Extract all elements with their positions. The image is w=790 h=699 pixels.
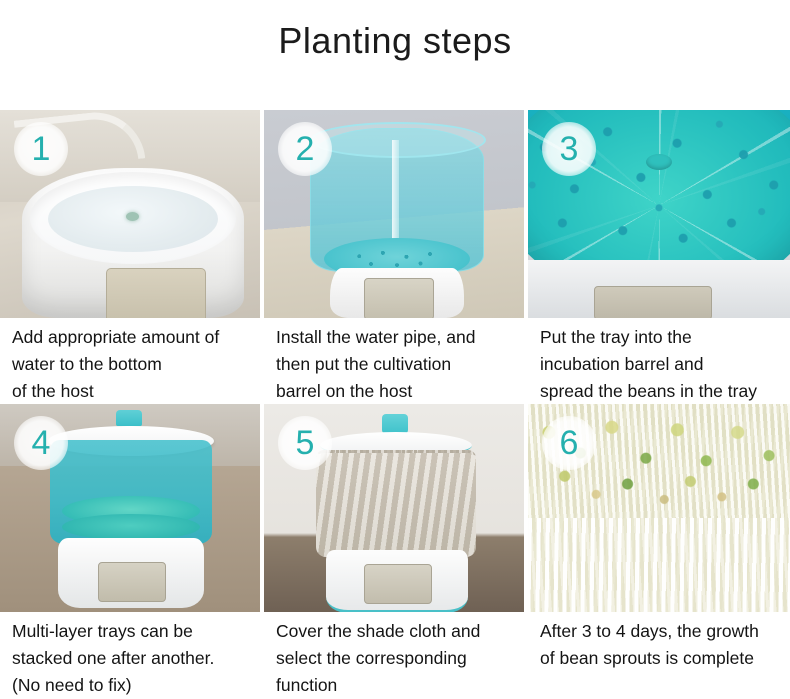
step-card-6: 6 After 3 to 4 days, the growth of bean … bbox=[528, 404, 790, 698]
step-image-2: 2 bbox=[264, 110, 524, 318]
step-caption-4: Multi-layer trays can be stacked one aft… bbox=[0, 612, 260, 698]
step-image-6: 6 bbox=[528, 404, 790, 612]
page-title: Planting steps bbox=[0, 20, 790, 62]
lid-knob bbox=[116, 410, 142, 426]
step-badge-2: 2 bbox=[278, 122, 332, 176]
step-image-5: 5 bbox=[264, 404, 524, 612]
planting-steps-infographic: Planting steps 1 Add appropriate amount … bbox=[0, 0, 790, 694]
control-panel bbox=[364, 564, 432, 604]
steps-grid: 1 Add appropriate amount of water to the… bbox=[0, 110, 790, 698]
lid-knob bbox=[382, 414, 408, 434]
step-card-3: 3 Put the tray into the incubation barre… bbox=[528, 110, 790, 404]
step-caption-1: Add appropriate amount of water to the b… bbox=[0, 318, 260, 404]
step-image-3: 3 bbox=[528, 110, 790, 318]
step-image-1: 1 bbox=[0, 110, 260, 318]
control-panel bbox=[98, 562, 166, 602]
step-image-4: 4 bbox=[0, 404, 260, 612]
tray-layer-lower bbox=[62, 514, 200, 540]
step-badge-3: 3 bbox=[542, 122, 596, 176]
step-badge-1: 1 bbox=[14, 122, 68, 176]
step-badge-6: 6 bbox=[542, 416, 596, 470]
step-card-1: 1 Add appropriate amount of water to the… bbox=[0, 110, 260, 404]
step-card-4: 4 Multi-layer trays can be stacked one a… bbox=[0, 404, 260, 698]
step-badge-4: 4 bbox=[14, 416, 68, 470]
shade-cloth bbox=[316, 450, 476, 557]
step-caption-5: Cover the shade cloth and select the cor… bbox=[264, 612, 524, 698]
water-nozzle bbox=[126, 212, 139, 221]
control-panel bbox=[364, 278, 434, 318]
tray-center-hub bbox=[646, 154, 672, 170]
step-card-5: 5 Cover the shade cloth and select the c… bbox=[264, 404, 524, 698]
control-panel bbox=[594, 286, 712, 318]
step-caption-2: Install the water pipe, and then put the… bbox=[264, 318, 524, 404]
step-card-2: 2 Install the water pipe, and then put t… bbox=[264, 110, 524, 404]
control-panel bbox=[106, 268, 206, 318]
step-caption-6: After 3 to 4 days, the growth of bean sp… bbox=[528, 612, 790, 698]
step-caption-3: Put the tray into the incubation barrel … bbox=[528, 318, 790, 404]
step-badge-5: 5 bbox=[278, 416, 332, 470]
